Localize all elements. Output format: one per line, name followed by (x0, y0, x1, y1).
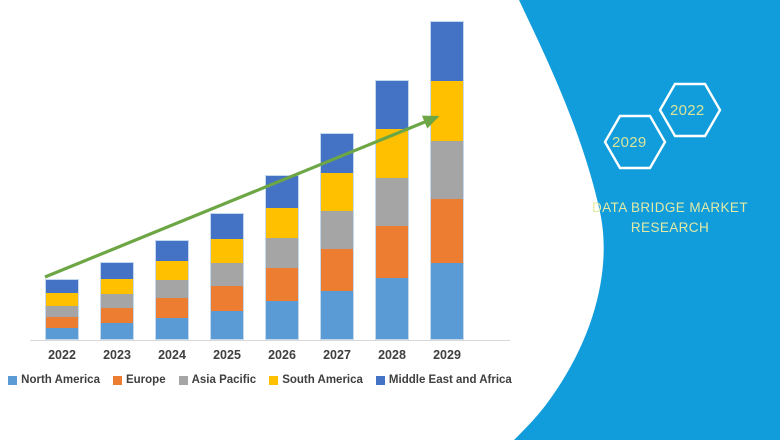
hexagon-outlines (560, 70, 780, 180)
segment-north-america-2026 (266, 301, 298, 339)
segment-north-america-2029 (431, 263, 463, 339)
x-axis-line (30, 340, 510, 341)
x-tick-2022: 2022 (32, 348, 92, 362)
segment-europe-2022 (46, 317, 78, 328)
legend-label: North America (21, 374, 100, 386)
legend-swatch-icon (376, 376, 385, 385)
segment-europe-2027 (321, 249, 353, 291)
bar-2026 (265, 175, 299, 340)
legend-swatch-icon (269, 376, 278, 385)
legend-label: Middle East and Africa (389, 374, 512, 386)
hexagon-2022-label: 2022 (670, 102, 705, 119)
segment-south-america-2029 (431, 81, 463, 141)
segment-south-america-2022 (46, 293, 78, 305)
x-tick-2029: 2029 (417, 348, 477, 362)
x-tick-2025: 2025 (197, 348, 257, 362)
bar-2023 (100, 262, 134, 340)
stacked-bar-chart: 20222023202420252026202720282029 (0, 0, 520, 400)
segment-asia-pacific-2026 (266, 238, 298, 268)
legend-swatch-icon (113, 376, 122, 385)
segment-middle-east-and-africa-2024 (156, 241, 188, 261)
segment-asia-pacific-2029 (431, 141, 463, 200)
legend-item-north-america[interactable]: North America (8, 374, 100, 386)
brand-title-line-1: DATA BRIDGE MARKET (592, 200, 748, 215)
segment-north-america-2025 (211, 311, 243, 339)
segment-south-america-2024 (156, 261, 188, 280)
x-tick-2026: 2026 (252, 348, 312, 362)
segment-europe-2023 (101, 308, 133, 323)
segment-middle-east-and-africa-2027 (321, 134, 353, 173)
bar-2027 (320, 133, 354, 340)
brand-content: 2029 2022 DATA BRIDGE MARKET RESEARCH (560, 70, 780, 260)
x-tick-2024: 2024 (142, 348, 202, 362)
brand-title-line-2: RESEARCH (560, 218, 780, 238)
segment-europe-2025 (211, 286, 243, 311)
plot-area (30, 20, 500, 340)
segment-asia-pacific-2028 (376, 178, 408, 226)
segment-middle-east-and-africa-2022 (46, 280, 78, 294)
x-tick-2023: 2023 (87, 348, 147, 362)
legend-label: Asia Pacific (192, 374, 257, 386)
segment-north-america-2028 (376, 278, 408, 339)
segment-middle-east-and-africa-2028 (376, 81, 408, 129)
segment-middle-east-and-africa-2026 (266, 176, 298, 208)
legend-item-middle-east-and-africa[interactable]: Middle East and Africa (376, 374, 512, 386)
bar-2029 (430, 21, 464, 340)
segment-asia-pacific-2027 (321, 211, 353, 249)
segment-north-america-2024 (156, 318, 188, 339)
segment-south-america-2028 (376, 129, 408, 177)
hexagon-2029-label: 2029 (612, 134, 647, 151)
segment-europe-2029 (431, 199, 463, 263)
segment-south-america-2025 (211, 239, 243, 263)
x-tick-2028: 2028 (362, 348, 422, 362)
segment-north-america-2027 (321, 291, 353, 339)
brand-title: DATA BRIDGE MARKET RESEARCH (560, 198, 780, 238)
segment-europe-2028 (376, 226, 408, 278)
segment-asia-pacific-2025 (211, 263, 243, 286)
segment-europe-2024 (156, 298, 188, 318)
x-tick-2027: 2027 (307, 348, 367, 362)
segment-middle-east-and-africa-2025 (211, 214, 243, 239)
legend-item-europe[interactable]: Europe (113, 374, 166, 386)
segment-middle-east-and-africa-2023 (101, 263, 133, 279)
legend-label: South America (282, 374, 363, 386)
legend-item-south-america[interactable]: South America (269, 374, 363, 386)
segment-south-america-2026 (266, 208, 298, 238)
segment-asia-pacific-2024 (156, 280, 188, 298)
hexagon-group: 2029 2022 (560, 70, 780, 180)
bar-2022 (45, 279, 79, 340)
segment-asia-pacific-2022 (46, 306, 78, 317)
legend-swatch-icon (179, 376, 188, 385)
segment-north-america-2023 (101, 323, 133, 339)
segment-middle-east-and-africa-2029 (431, 22, 463, 81)
segment-asia-pacific-2023 (101, 294, 133, 308)
legend-label: Europe (126, 374, 166, 386)
legend-swatch-icon (8, 376, 17, 385)
segment-south-america-2023 (101, 279, 133, 294)
legend-item-asia-pacific[interactable]: Asia Pacific (179, 374, 257, 386)
segment-south-america-2027 (321, 173, 353, 211)
chart-legend: North AmericaEuropeAsia PacificSouth Ame… (0, 374, 520, 386)
bar-2024 (155, 240, 189, 340)
segment-europe-2026 (266, 268, 298, 301)
bar-2028 (375, 80, 409, 340)
market-chart-infographic: 2029 2022 DATA BRIDGE MARKET RESEARCH 20… (0, 0, 780, 440)
segment-north-america-2022 (46, 328, 78, 339)
bar-2025 (210, 213, 244, 340)
